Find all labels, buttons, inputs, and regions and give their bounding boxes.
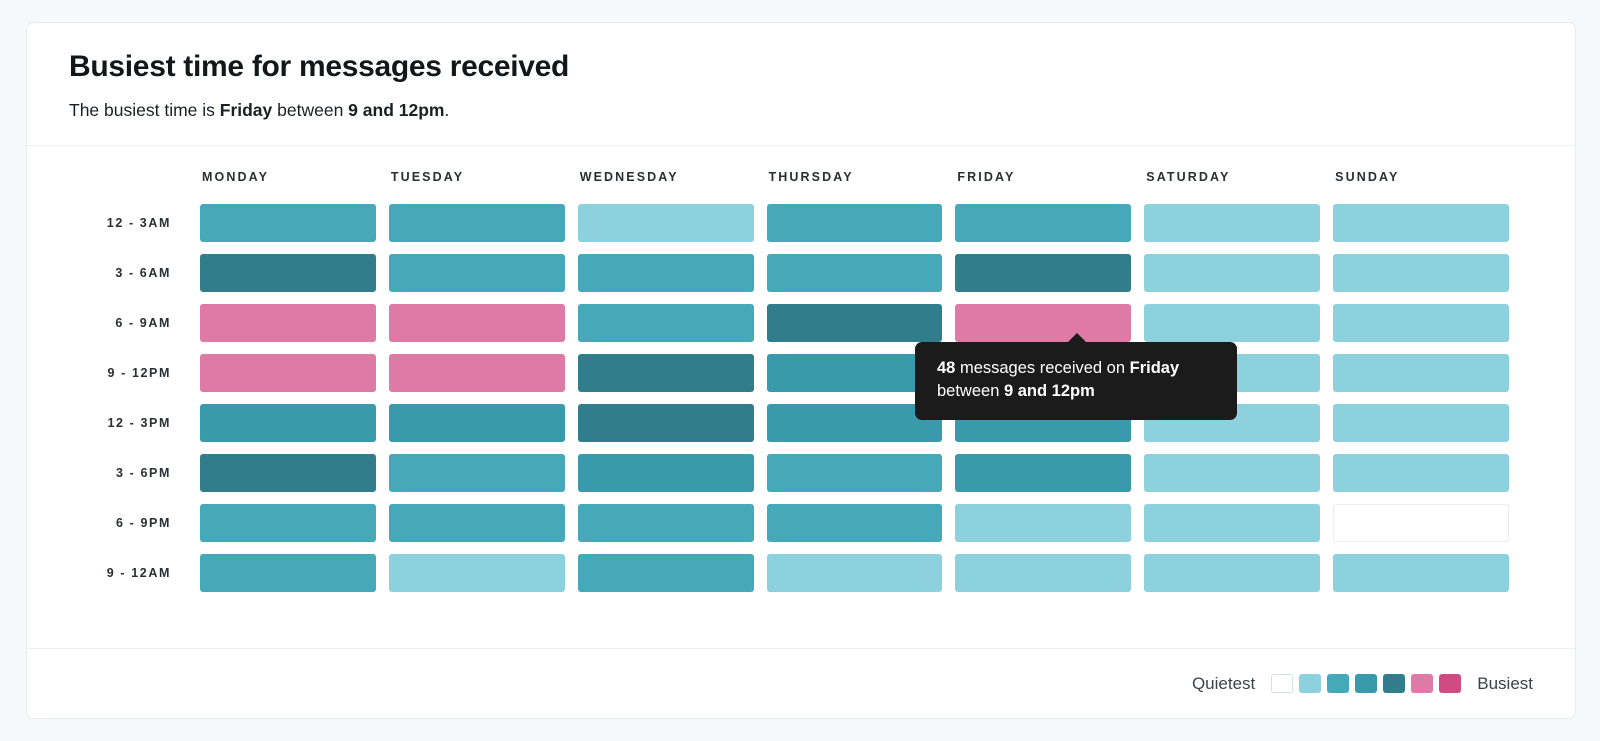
legend-swatch-5 — [1411, 674, 1433, 693]
heatmap-cell-wrap — [200, 448, 376, 498]
heatmap-cell-wrap — [578, 248, 754, 298]
busiest-time-card: Busiest time for messages received The b… — [26, 22, 1576, 719]
heatmap-cell[interactable] — [767, 554, 943, 592]
heatmap-cell-wrap — [767, 198, 943, 248]
heatmap-cell[interactable] — [200, 304, 376, 342]
heatmap-cell-wrap — [200, 398, 376, 448]
heatmap-cell-wrap — [200, 298, 376, 348]
heatmap-cell[interactable] — [578, 354, 754, 392]
heatmap-cell[interactable] — [955, 454, 1131, 492]
heatmap-cell-wrap — [389, 198, 565, 248]
tooltip-line2-range: 9 and 12pm — [1004, 382, 1095, 400]
heatmap-cell-wrap — [767, 548, 943, 598]
legend: Quietest Busiest — [1192, 674, 1533, 694]
column-header-monday: MONDAY — [200, 170, 376, 198]
heatmap-cell[interactable] — [1333, 454, 1509, 492]
column-header-saturday: SATURDAY — [1144, 170, 1320, 198]
subtitle-middle: between — [272, 100, 348, 120]
heatmap-cell-wrap — [389, 298, 565, 348]
legend-swatches — [1271, 674, 1461, 693]
heatmap-cell[interactable] — [1144, 454, 1320, 492]
legend-swatch-6 — [1439, 674, 1461, 693]
heatmap-cell[interactable] — [1333, 204, 1509, 242]
heatmap-cell[interactable] — [1144, 254, 1320, 292]
heatmap-cell[interactable] — [200, 454, 376, 492]
row-label: 12 - 3PM — [69, 416, 187, 430]
heatmap-cell-wrap — [389, 448, 565, 498]
heatmap-cell-wrap — [1144, 198, 1320, 248]
row-label: 3 - 6PM — [69, 466, 187, 480]
heatmap-cell[interactable] — [767, 454, 943, 492]
heatmap-cell-wrap — [1333, 348, 1509, 398]
heatmap-cell[interactable] — [955, 304, 1131, 342]
heatmap-cell[interactable] — [389, 504, 565, 542]
legend-swatch-1 — [1299, 674, 1321, 693]
heatmap-cell[interactable] — [1144, 304, 1320, 342]
heatmap-cell-wrap — [200, 498, 376, 548]
legend-swatch-3 — [1355, 674, 1377, 693]
heatmap-cell[interactable] — [200, 504, 376, 542]
heatmap-grid: MONDAYTUESDAYWEDNESDAYTHURSDAYFRIDAYSATU… — [69, 170, 1509, 598]
card-header: Busiest time for messages received The b… — [27, 23, 1575, 146]
heatmap-cell-wrap — [389, 548, 565, 598]
heatmap-cell-wrap — [767, 298, 943, 348]
subtitle-prefix: The busiest time is — [69, 100, 220, 120]
column-header-tuesday: TUESDAY — [389, 170, 565, 198]
row-label: 12 - 3AM — [69, 216, 187, 230]
heatmap-cell[interactable] — [578, 404, 754, 442]
heatmap-cell[interactable] — [955, 554, 1131, 592]
heatmap-cell[interactable] — [389, 304, 565, 342]
row-label: 6 - 9AM — [69, 316, 187, 330]
heatmap-cell[interactable] — [389, 404, 565, 442]
card-subtitle: The busiest time is Friday between 9 and… — [69, 99, 1535, 123]
heatmap-cell-wrap — [578, 548, 754, 598]
heatmap-cell-wrap — [955, 448, 1131, 498]
tooltip-arrow-icon — [1067, 333, 1087, 343]
legend-swatch-4 — [1383, 674, 1405, 693]
heatmap-cell-wrap — [578, 298, 754, 348]
heatmap-cell[interactable] — [200, 354, 376, 392]
heatmap-cell-wrap — [1333, 248, 1509, 298]
heatmap-cell-wrap — [767, 448, 943, 498]
column-header-wednesday: WEDNESDAY — [578, 170, 754, 198]
heatmap-cell-wrap — [389, 498, 565, 548]
heatmap-cell[interactable] — [1333, 404, 1509, 442]
heatmap-cell-wrap — [1144, 498, 1320, 548]
heatmap-cell-wrap — [1144, 548, 1320, 598]
tooltip-mid: messages received on — [955, 359, 1129, 377]
heatmap-cell[interactable] — [955, 504, 1131, 542]
heatmap-cell[interactable] — [200, 254, 376, 292]
row-label: 9 - 12PM — [69, 366, 187, 380]
heatmap-cell-wrap — [1144, 248, 1320, 298]
heatmap-cell-wrap — [955, 548, 1131, 598]
heatmap-body: MONDAYTUESDAYWEDNESDAYTHURSDAYFRIDAYSATU… — [27, 146, 1575, 648]
heatmap-cell[interactable] — [389, 554, 565, 592]
tooltip-line-2: between 9 and 12pm — [937, 380, 1217, 403]
heatmap-cell[interactable] — [955, 254, 1131, 292]
heatmap-cell-wrap — [200, 548, 376, 598]
heatmap-cell[interactable] — [578, 304, 754, 342]
heatmap-cell-wrap — [200, 348, 376, 398]
legend-swatch-0 — [1271, 674, 1293, 693]
heatmap-cell-wrap — [955, 298, 1131, 348]
heatmap-cell-wrap — [578, 198, 754, 248]
column-header-thursday: THURSDAY — [767, 170, 943, 198]
heatmap-cell[interactable] — [578, 204, 754, 242]
subtitle-day: Friday — [220, 100, 273, 120]
heatmap-cell[interactable] — [1144, 504, 1320, 542]
heatmap-cell[interactable] — [955, 204, 1131, 242]
heatmap-cell[interactable] — [578, 554, 754, 592]
tooltip-line-1: 48 messages received on Friday — [937, 357, 1217, 380]
row-label: 6 - 9PM — [69, 516, 187, 530]
legend-busiest-label: Busiest — [1477, 674, 1533, 694]
heatmap-cell-wrap — [767, 498, 943, 548]
heatmap-cell-wrap — [1144, 298, 1320, 348]
tooltip-line2-prefix: between — [937, 382, 1004, 400]
heatmap-cell-wrap — [955, 198, 1131, 248]
column-header-sunday: SUNDAY — [1333, 170, 1509, 198]
heatmap-cell-wrap — [1333, 398, 1509, 448]
heatmap-cell[interactable] — [578, 504, 754, 542]
heatmap-cell-wrap — [578, 398, 754, 448]
heatmap-cell[interactable] — [767, 504, 943, 542]
heatmap-cell-wrap — [1333, 498, 1509, 548]
subtitle-range: 9 and 12pm — [348, 100, 444, 120]
heatmap-cell[interactable] — [767, 204, 943, 242]
heatmap-cell-wrap — [1333, 548, 1509, 598]
heatmap-cell-wrap — [578, 448, 754, 498]
heatmap-cell[interactable] — [389, 454, 565, 492]
heatmap-cell[interactable] — [767, 304, 943, 342]
page-root: Busiest time for messages received The b… — [0, 0, 1600, 741]
row-label: 3 - 6AM — [69, 266, 187, 280]
heatmap-cell-wrap — [389, 348, 565, 398]
heatmap-cell-wrap — [1333, 198, 1509, 248]
heatmap-cell-wrap — [955, 498, 1131, 548]
heatmap-cell[interactable] — [1144, 204, 1320, 242]
page-title: Busiest time for messages received — [69, 49, 1535, 85]
legend-quietest-label: Quietest — [1192, 674, 1255, 694]
heatmap-cell[interactable] — [1333, 304, 1509, 342]
heatmap-cell[interactable] — [1333, 254, 1509, 292]
heatmap-cell[interactable] — [767, 254, 943, 292]
heatmap-cell-wrap — [389, 248, 565, 298]
row-label: 9 - 12AM — [69, 566, 187, 580]
heatmap-cell-wrap — [1144, 448, 1320, 498]
heatmap-cell[interactable] — [1333, 504, 1509, 542]
heatmap-cell[interactable] — [200, 204, 376, 242]
subtitle-suffix: . — [444, 100, 449, 120]
heatmap-cell[interactable] — [389, 254, 565, 292]
tooltip-count: 48 — [937, 359, 955, 377]
card-footer: Quietest Busiest — [27, 648, 1575, 718]
heatmap-cell-wrap — [389, 398, 565, 448]
column-header-friday: FRIDAY — [955, 170, 1131, 198]
heatmap-cell-wrap — [200, 248, 376, 298]
heatmap-cell[interactable] — [389, 204, 565, 242]
heatmap-cell[interactable] — [200, 404, 376, 442]
tooltip-day: Friday — [1130, 359, 1180, 377]
heatmap-cell-wrap — [767, 248, 943, 298]
heatmap-cell-wrap — [1333, 298, 1509, 348]
heatmap-cell[interactable] — [578, 454, 754, 492]
heatmap-tooltip: 48 messages received on Friday between 9… — [915, 342, 1237, 421]
heatmap-cell[interactable] — [200, 554, 376, 592]
heatmap-cell[interactable] — [578, 254, 754, 292]
heatmap-cell[interactable] — [1333, 554, 1509, 592]
legend-swatch-2 — [1327, 674, 1349, 693]
heatmap-cell-wrap — [200, 198, 376, 248]
heatmap-cell-wrap — [1333, 448, 1509, 498]
grid-corner — [69, 177, 187, 191]
heatmap-cell-wrap — [578, 498, 754, 548]
heatmap-cell-wrap — [578, 348, 754, 398]
heatmap-cell-wrap — [955, 248, 1131, 298]
heatmap-cell[interactable] — [1333, 354, 1509, 392]
heatmap-cell[interactable] — [1144, 554, 1320, 592]
heatmap-cell[interactable] — [389, 354, 565, 392]
